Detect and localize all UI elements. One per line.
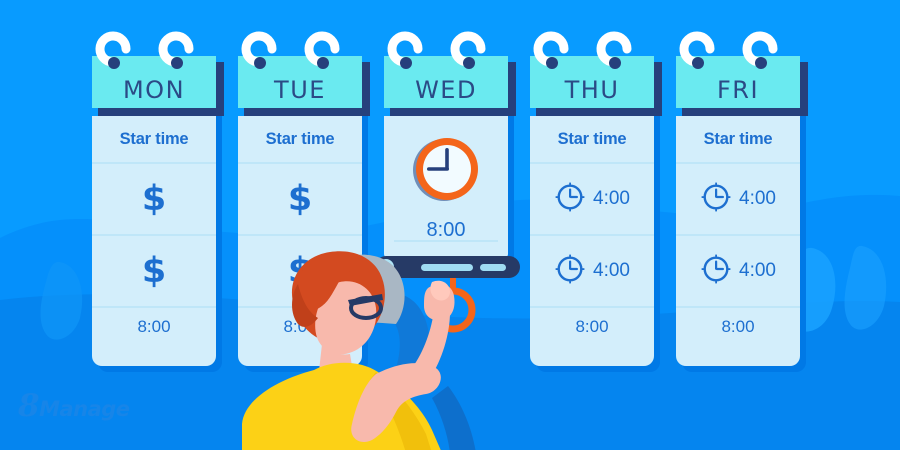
entry-time: 4:00 xyxy=(593,260,630,282)
watermark-number: 8 xyxy=(18,388,39,424)
entry-row[interactable]: $ xyxy=(238,162,362,234)
clock-time-wed: 8:00 xyxy=(427,219,466,242)
card-body-fri: Star time 4:00 xyxy=(676,116,800,366)
alarm-clock-icon xyxy=(407,130,485,213)
star-time-label-tue: Star time xyxy=(238,116,362,162)
watermark-word: Manage xyxy=(39,397,129,421)
total-time-thu: 8:00 xyxy=(530,306,654,346)
dollar-icon: $ xyxy=(142,182,166,217)
star-time-label-mon: Star time xyxy=(92,116,216,162)
entry-time: 4:00 xyxy=(593,188,630,210)
watermark-logo: 8Manage xyxy=(18,388,130,424)
binder-rings xyxy=(0,0,900,120)
entry-time: 4:00 xyxy=(739,188,776,210)
entry-row[interactable]: 4:00 xyxy=(676,162,800,234)
card-body-wed: 8:00 xyxy=(384,116,508,258)
clock-icon xyxy=(700,181,732,218)
clock-icon xyxy=(554,253,586,290)
entry-row[interactable]: 4:00 xyxy=(530,234,654,306)
illustration-canvas: MON Star time $ $ 8:00 TUE Star time $ $ xyxy=(0,0,900,450)
person-reaching xyxy=(236,248,536,450)
total-time-mon: 8:00 xyxy=(92,306,216,346)
dollar-icon: $ xyxy=(288,182,312,217)
divider xyxy=(394,240,498,242)
entry-row[interactable]: $ xyxy=(92,162,216,234)
dollar-icon: $ xyxy=(142,254,166,289)
total-time-fri: 8:00 xyxy=(676,306,800,346)
entry-time: 4:00 xyxy=(739,260,776,282)
card-body-mon: Star time $ $ 8:00 xyxy=(92,116,216,366)
star-time-label-fri: Star time xyxy=(676,116,800,162)
card-body-thu: Star time 4:00 xyxy=(530,116,654,366)
entry-row[interactable]: 4:00 xyxy=(530,162,654,234)
entry-row[interactable]: 4:00 xyxy=(676,234,800,306)
entry-row[interactable]: $ xyxy=(92,234,216,306)
clock-icon xyxy=(554,181,586,218)
clock-icon xyxy=(700,253,732,290)
star-time-label-thu: Star time xyxy=(530,116,654,162)
